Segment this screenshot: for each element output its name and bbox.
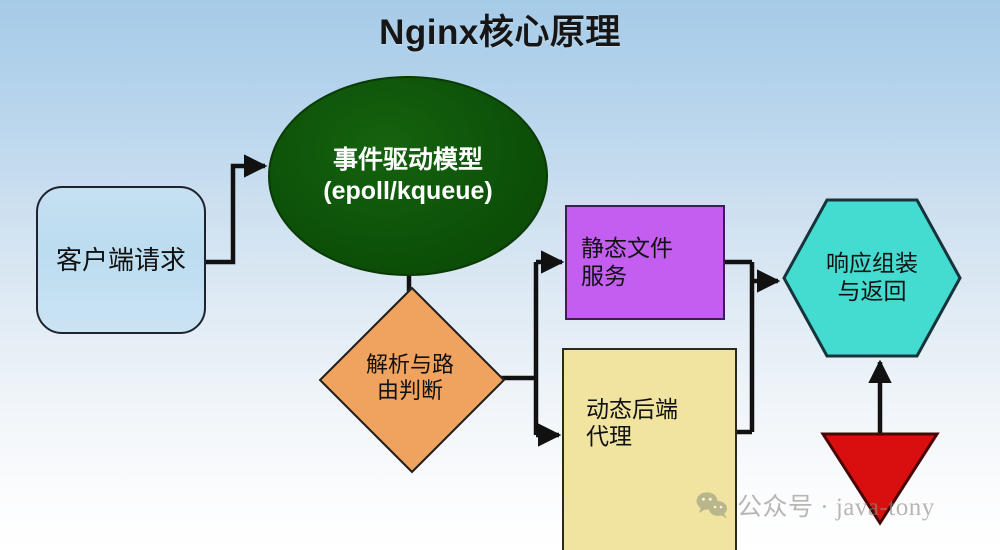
node-static-file-service[interactable]: 静态文件 服务 — [565, 205, 725, 320]
node-parse-route-label: 解析与路 由判断 — [320, 288, 500, 468]
diagram-title: Nginx核心原理 — [0, 4, 1000, 55]
node-event-driven-model-label: 事件驱动模型 (epoll/kqueue) — [323, 145, 492, 207]
node-dynamic-backend-proxy-label: 动态后端 代理 — [586, 396, 678, 450]
node-response-assembly[interactable]: 响应组装 与返回 — [782, 198, 962, 358]
node-parse-route[interactable]: 解析与路 由判断 — [320, 288, 500, 468]
edge-client-to-event — [206, 166, 265, 262]
node-static-file-service-label: 静态文件 服务 — [581, 235, 673, 289]
node-response-assembly-label: 响应组装 与返回 — [782, 198, 962, 358]
node-dynamic-backend-proxy[interactable]: 动态后端 代理 — [562, 348, 737, 550]
node-event-driven-model[interactable]: 事件驱动模型 (epoll/kqueue) — [268, 76, 548, 276]
node-client-request-label: 客户端请求 — [56, 245, 186, 276]
node-red-triangle[interactable] — [820, 430, 940, 526]
node-client-request[interactable]: 客户端请求 — [36, 186, 206, 334]
diagram-canvas: Nginx核心原理 客户端请求 事件驱动模型 (epoll/kqueue) 解析… — [0, 0, 1000, 550]
